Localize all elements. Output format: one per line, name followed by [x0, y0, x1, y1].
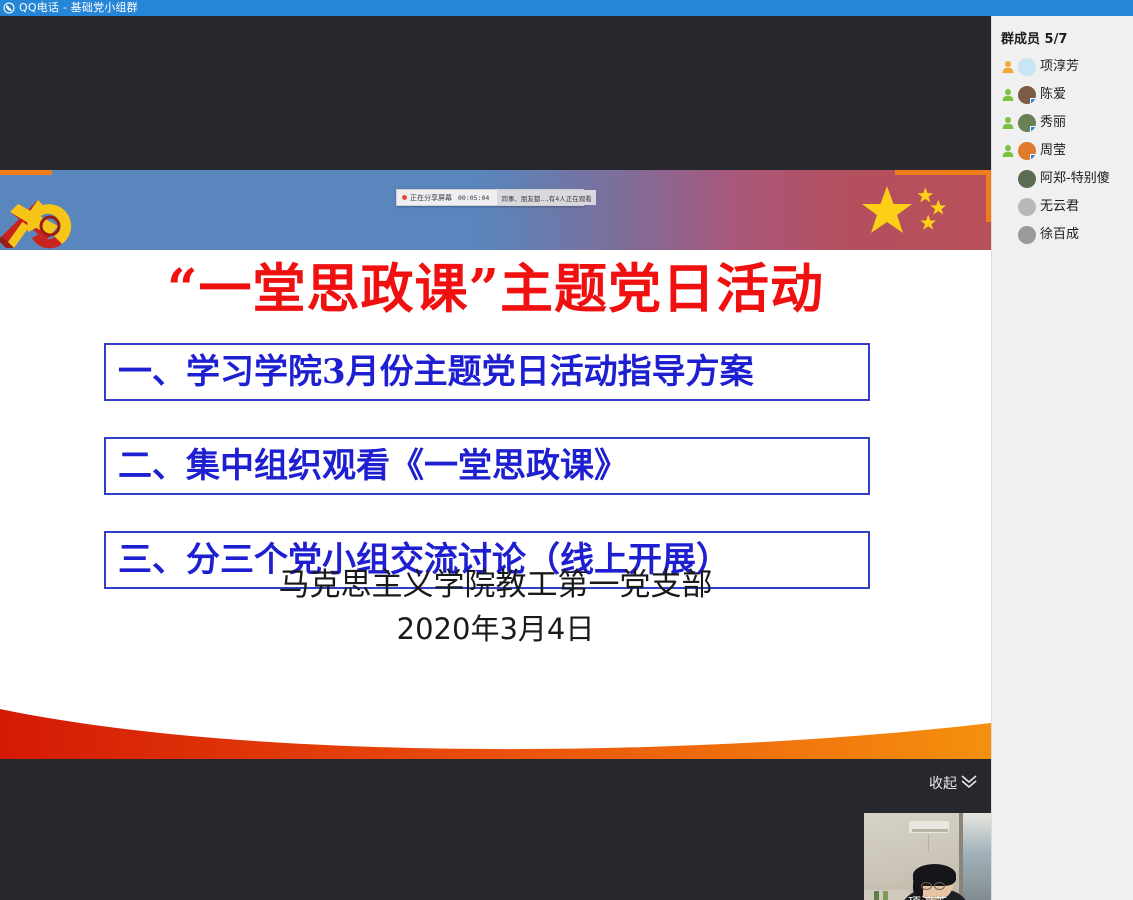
slide-banner [0, 170, 991, 250]
avatar-badge-icon [1030, 98, 1036, 104]
qq-phone-icon [3, 2, 15, 14]
member-speaking-slot-empty [998, 197, 1018, 217]
member-name: 秀丽 [1040, 114, 1066, 132]
share-elapsed-time: 00:05:04 [458, 194, 489, 202]
agenda-item-text: 二、集中组织观看《一堂思政课》 [118, 446, 628, 486]
glasses-lens-left [921, 882, 932, 890]
avatar [1018, 114, 1036, 132]
member-list-item[interactable]: 无云君 [992, 193, 1133, 221]
avatar [1018, 198, 1036, 216]
slide-footer: 马克思主义学院教工第一党支部 2020年3月4日 [0, 562, 991, 650]
member-list-item[interactable]: 周莹 [992, 137, 1133, 165]
avatar [1018, 142, 1036, 160]
slide-body: “一堂思政课”主题党日活动 一、学习学院3月份主题党日活动指导方案 二、集中组织… [0, 250, 991, 705]
person-speaking-icon [998, 141, 1018, 161]
member-list-item[interactable]: 项淳芳 [992, 53, 1133, 81]
screen-share-toolbar[interactable]: 正在分享屏幕 00:05:04 同事、朋友都...,有4人正在观看 [396, 189, 584, 206]
member-list-item[interactable]: 陈爱 [992, 81, 1133, 109]
slide-bottom-ribbon [0, 705, 991, 759]
air-conditioner-object [908, 820, 950, 834]
hanging-cord [928, 834, 929, 852]
avatar [1018, 86, 1036, 104]
member-name: 周莹 [1040, 142, 1066, 160]
avatar [1018, 170, 1036, 188]
call-stage: “一堂思政课”主题党日活动 一、学习学院3月份主题党日活动指导方案 二、集中组织… [0, 16, 991, 900]
member-list-item[interactable]: 秀丽 [992, 109, 1133, 137]
avatar [1018, 226, 1036, 244]
banner-accent-right-top [895, 170, 991, 175]
avatar-badge-icon [1030, 154, 1036, 160]
shared-screen-slide: “一堂思政课”主题党日活动 一、学习学院3月份主题党日活动指导方案 二、集中组织… [0, 170, 991, 759]
air-conditioner-grill [912, 829, 948, 832]
member-list-item[interactable]: 阿郑-特别傻 [992, 165, 1133, 193]
chevron-double-down-icon [959, 773, 979, 793]
china-flag-stars-icon [849, 178, 969, 244]
member-list-item[interactable]: 徐百成 [992, 221, 1133, 249]
avatar-badge-icon [1030, 126, 1036, 132]
member-speaking-slot-empty [998, 225, 1018, 245]
avatar [1018, 58, 1036, 76]
member-name: 阿郑-特别傻 [1040, 170, 1110, 188]
member-list: 项淳芳陈爱秀丽周莹阿郑-特别傻无云君徐百成 [992, 53, 1133, 249]
title-bar: QQ电话 - 基础党小组群 [0, 0, 1133, 16]
collapse-label: 收起 [929, 773, 957, 793]
self-video-tile[interactable]: 项淳芳 [864, 813, 991, 900]
person-speaking-icon [998, 85, 1018, 105]
member-count-header: 群成员 5/7 [992, 16, 1133, 53]
member-sidebar: 群成员 5/7 项淳芳陈爱秀丽周莹阿郑-特别傻无云君徐百成 [991, 16, 1133, 900]
member-name: 陈爱 [1040, 86, 1066, 104]
share-status-label: 正在分享屏幕 [410, 193, 452, 203]
self-video-name: 项淳芳 [864, 896, 991, 900]
qq-call-window: QQ电话 - 基础党小组群 [0, 0, 1133, 900]
ribbon-baseline [0, 755, 991, 759]
recording-dot-icon [402, 195, 407, 200]
banner-accent-left [0, 170, 52, 175]
share-viewers-label[interactable]: 同事、朋友都...,有4人正在观看 [497, 190, 595, 205]
slide-footer-date: 2020年3月4日 [0, 608, 991, 650]
person-speaking-icon [998, 113, 1018, 133]
member-name: 无云君 [1040, 198, 1079, 216]
member-name: 项淳芳 [1040, 58, 1079, 76]
glasses-lens-right [934, 882, 945, 890]
agenda-item: 一、学习学院3月份主题党日活动指导方案 [104, 343, 870, 401]
window-title: QQ电话 - 基础党小组群 [19, 2, 138, 14]
slide-footer-org: 马克思主义学院教工第一党支部 [0, 562, 991, 608]
share-status: 正在分享屏幕 00:05:04 [397, 193, 489, 203]
member-name: 徐百成 [1040, 226, 1079, 244]
collapse-video-button[interactable]: 收起 [929, 773, 979, 793]
person-speaking-icon [998, 57, 1018, 77]
slide-title: “一堂思政课”主题党日活动 [0, 258, 991, 320]
member-speaking-slot-empty [998, 169, 1018, 189]
agenda-item: 二、集中组织观看《一堂思政课》 [104, 437, 870, 495]
agenda-item-text: 一、学习学院3月份主题党日活动指导方案 [118, 352, 754, 392]
